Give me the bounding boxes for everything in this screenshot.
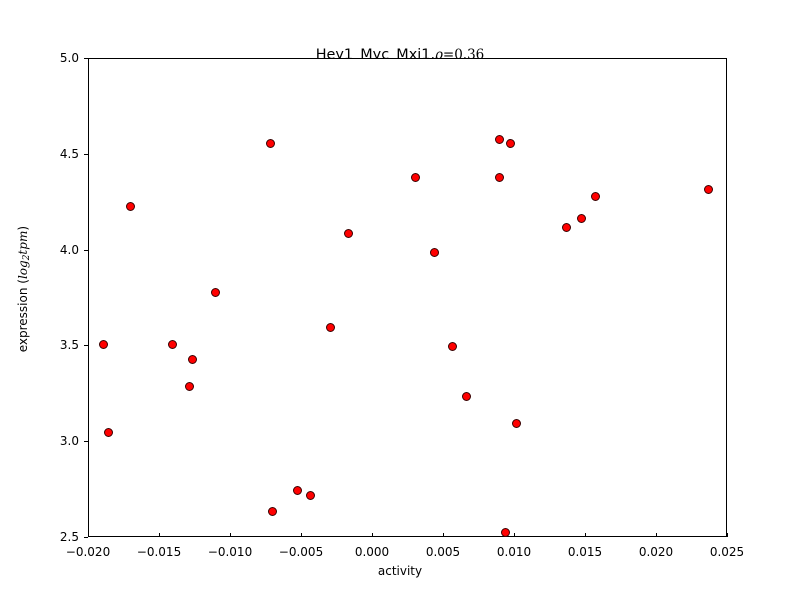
- x-tick-label: −0.010: [208, 545, 252, 559]
- scatter-point: [126, 202, 135, 211]
- scatter-point: [293, 486, 302, 495]
- y-tick-label: 3.5: [60, 338, 79, 352]
- y-axis-label-log: log: [16, 260, 30, 279]
- x-tick-mark: [372, 533, 373, 537]
- y-tick-mark: [84, 537, 88, 538]
- scatter-point: [268, 507, 277, 516]
- y-tick-mark: [84, 345, 88, 346]
- x-tick-label: 0.000: [355, 545, 389, 559]
- y-tick-mark: [84, 250, 88, 251]
- y-tick-mark: [84, 154, 88, 155]
- x-tick-mark: [585, 533, 586, 537]
- scatter-point: [411, 173, 420, 182]
- scatter-point: [448, 342, 457, 351]
- x-tick-label: 0.015: [568, 545, 602, 559]
- scatter-point: [577, 214, 586, 223]
- y-tick-label: 4.5: [60, 147, 79, 161]
- scatter-plot-area: [89, 59, 726, 536]
- scatter-point: [168, 340, 177, 349]
- y-axis-label-suffix: ): [16, 226, 30, 231]
- y-axis-ticks: 2.53.03.54.04.55.0: [0, 58, 88, 537]
- x-tick-mark: [656, 533, 657, 537]
- x-tick-mark: [230, 533, 231, 537]
- x-tick-label: −0.015: [137, 545, 181, 559]
- x-tick-mark: [443, 533, 444, 537]
- scatter-point: [211, 288, 220, 297]
- scatter-point: [495, 135, 504, 144]
- scatter-point: [501, 528, 510, 537]
- y-tick-mark: [84, 441, 88, 442]
- scatter-point: [306, 491, 315, 500]
- x-tick-mark: [88, 533, 89, 537]
- y-axis-label-prefix: expression (: [16, 279, 30, 352]
- x-tick-label: 0.020: [639, 545, 673, 559]
- y-tick-label: 3.0: [60, 434, 79, 448]
- plot-axes-frame: [88, 58, 727, 537]
- x-tick-mark: [514, 533, 515, 537]
- x-tick-mark: [301, 533, 302, 537]
- x-tick-mark: [159, 533, 160, 537]
- y-tick-label: 5.0: [60, 51, 79, 65]
- x-tick-label: 0.010: [497, 545, 531, 559]
- scatter-point: [188, 355, 197, 364]
- scatter-point: [495, 173, 504, 182]
- scatter-point: [704, 185, 713, 194]
- scatter-point: [591, 192, 600, 201]
- y-axis-label-subscript: 2: [22, 255, 32, 261]
- x-tick-mark: [727, 533, 728, 537]
- x-tick-label: −0.005: [279, 545, 323, 559]
- scatter-point: [266, 139, 275, 148]
- y-tick-label: 4.0: [60, 243, 79, 257]
- scatter-point: [512, 419, 521, 428]
- scatter-point: [344, 229, 353, 238]
- y-tick-mark: [84, 58, 88, 59]
- scatter-point: [185, 382, 194, 391]
- scatter-point: [104, 428, 113, 437]
- figure-canvas: Hey1_Myc_Mxi1,ρ=0.36 mm10_v2_chr3_-_8667…: [0, 0, 800, 600]
- y-axis-label: expression (log2tpm): [16, 159, 32, 419]
- x-axis-label: activity: [0, 564, 800, 578]
- scatter-point: [562, 223, 571, 232]
- y-tick-label: 2.5: [60, 530, 79, 544]
- x-tick-label: 0.005: [426, 545, 460, 559]
- y-axis-label-tpm: tpm: [16, 231, 30, 255]
- scatter-point: [99, 340, 108, 349]
- scatter-point: [462, 392, 471, 401]
- x-axis-ticks: −0.020−0.015−0.010−0.0050.0000.0050.0100…: [88, 537, 727, 567]
- x-tick-label: 0.025: [710, 545, 744, 559]
- scatter-point: [506, 139, 515, 148]
- x-tick-label: −0.020: [66, 545, 110, 559]
- scatter-point: [430, 248, 439, 257]
- scatter-point: [326, 323, 335, 332]
